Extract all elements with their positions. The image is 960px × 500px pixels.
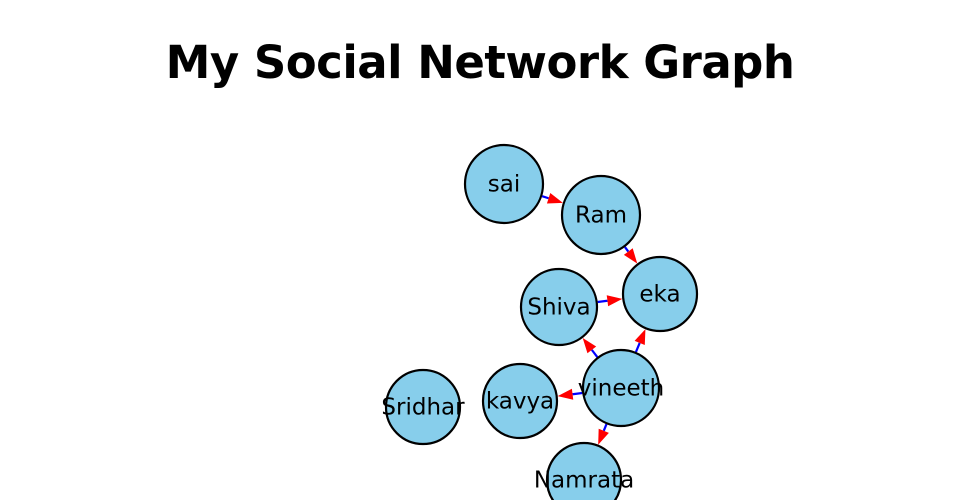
edge-line [604, 424, 607, 431]
edge-sai-to-Ram [542, 193, 563, 203]
edge-line [598, 301, 608, 302]
arrowhead-icon [624, 248, 637, 263]
graph-node-Namrata[interactable]: Namrata [534, 443, 634, 500]
edge-Ram-to-eka [624, 247, 637, 263]
node-label: kavya [486, 389, 554, 415]
graph-node-Shiva[interactable]: Shiva [521, 269, 597, 345]
edge-line [592, 350, 597, 357]
node-label: Namrata [534, 468, 634, 494]
arrowhead-icon [598, 429, 609, 445]
arrowhead-icon [558, 389, 574, 400]
arrowhead-icon [583, 338, 596, 353]
node-label: Shiva [527, 295, 590, 321]
nodes-layer: saiRamekaShivavineethkavyaSridharNamrata [381, 145, 697, 500]
arrowhead-icon [635, 329, 646, 345]
graph-node-vineeth[interactable]: vineeth [578, 350, 664, 426]
graph-node-kavya[interactable]: kavya [483, 364, 557, 438]
node-label: eka [639, 282, 680, 308]
graph-node-eka[interactable]: eka [623, 257, 697, 331]
arrowhead-icon [547, 193, 563, 203]
graph-node-Sridhar[interactable]: Sridhar [381, 370, 465, 444]
edge-line [625, 247, 628, 251]
edge-vineeth-to-Namrata [598, 424, 609, 445]
graph-node-sai[interactable]: sai [465, 145, 543, 223]
edge-vineeth-to-Shiva [583, 338, 598, 357]
node-label: sai [488, 172, 520, 198]
node-label: Ram [575, 203, 627, 229]
edge-vineeth-to-eka [635, 329, 646, 352]
network-graph: saiRamekaShivavineethkavyaSridharNamrata [0, 0, 960, 500]
edge-line [542, 196, 549, 198]
edge-Shiva-to-eka [598, 295, 623, 306]
arrowhead-icon [607, 295, 623, 306]
edge-line [636, 343, 640, 352]
node-label: vineeth [578, 376, 664, 402]
graph-canvas: My Social Network Graph saiRamekaShivavi… [0, 0, 960, 500]
graph-node-Ram[interactable]: Ram [562, 176, 640, 254]
node-label: Sridhar [381, 395, 465, 421]
